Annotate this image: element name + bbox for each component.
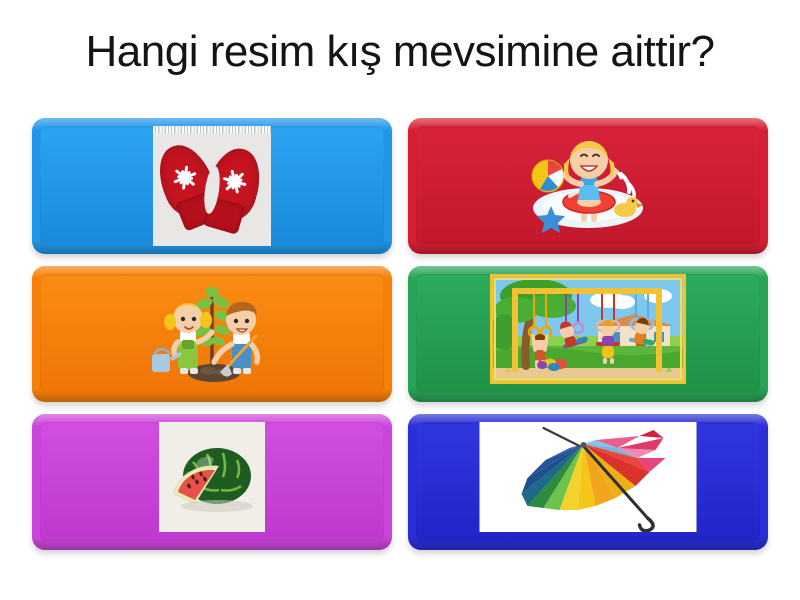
mittens-image bbox=[153, 126, 271, 246]
watermelon-image bbox=[159, 422, 265, 532]
snowflake-icon bbox=[219, 165, 251, 197]
snowflake-icon bbox=[168, 160, 202, 194]
umbrella-image bbox=[480, 422, 697, 532]
answer-grid bbox=[32, 118, 768, 550]
answer-card-5[interactable] bbox=[32, 414, 392, 550]
answer-card-2[interactable] bbox=[408, 118, 768, 254]
photo-zigzag-edge bbox=[153, 126, 271, 133]
answer-card-6[interactable] bbox=[408, 414, 768, 550]
answer-card-1[interactable] bbox=[32, 118, 392, 254]
page-title: Hangi resim kış mevsimine aittir? bbox=[0, 22, 800, 82]
summer-water-play-image bbox=[525, 126, 651, 236]
quiz-screen: Hangi resim kış mevsimine aittir? bbox=[0, 0, 800, 600]
answer-card-4[interactable] bbox=[408, 266, 768, 402]
playground-swings-image bbox=[490, 274, 686, 384]
tree-planting-image bbox=[144, 274, 280, 386]
answer-card-3[interactable] bbox=[32, 266, 392, 402]
